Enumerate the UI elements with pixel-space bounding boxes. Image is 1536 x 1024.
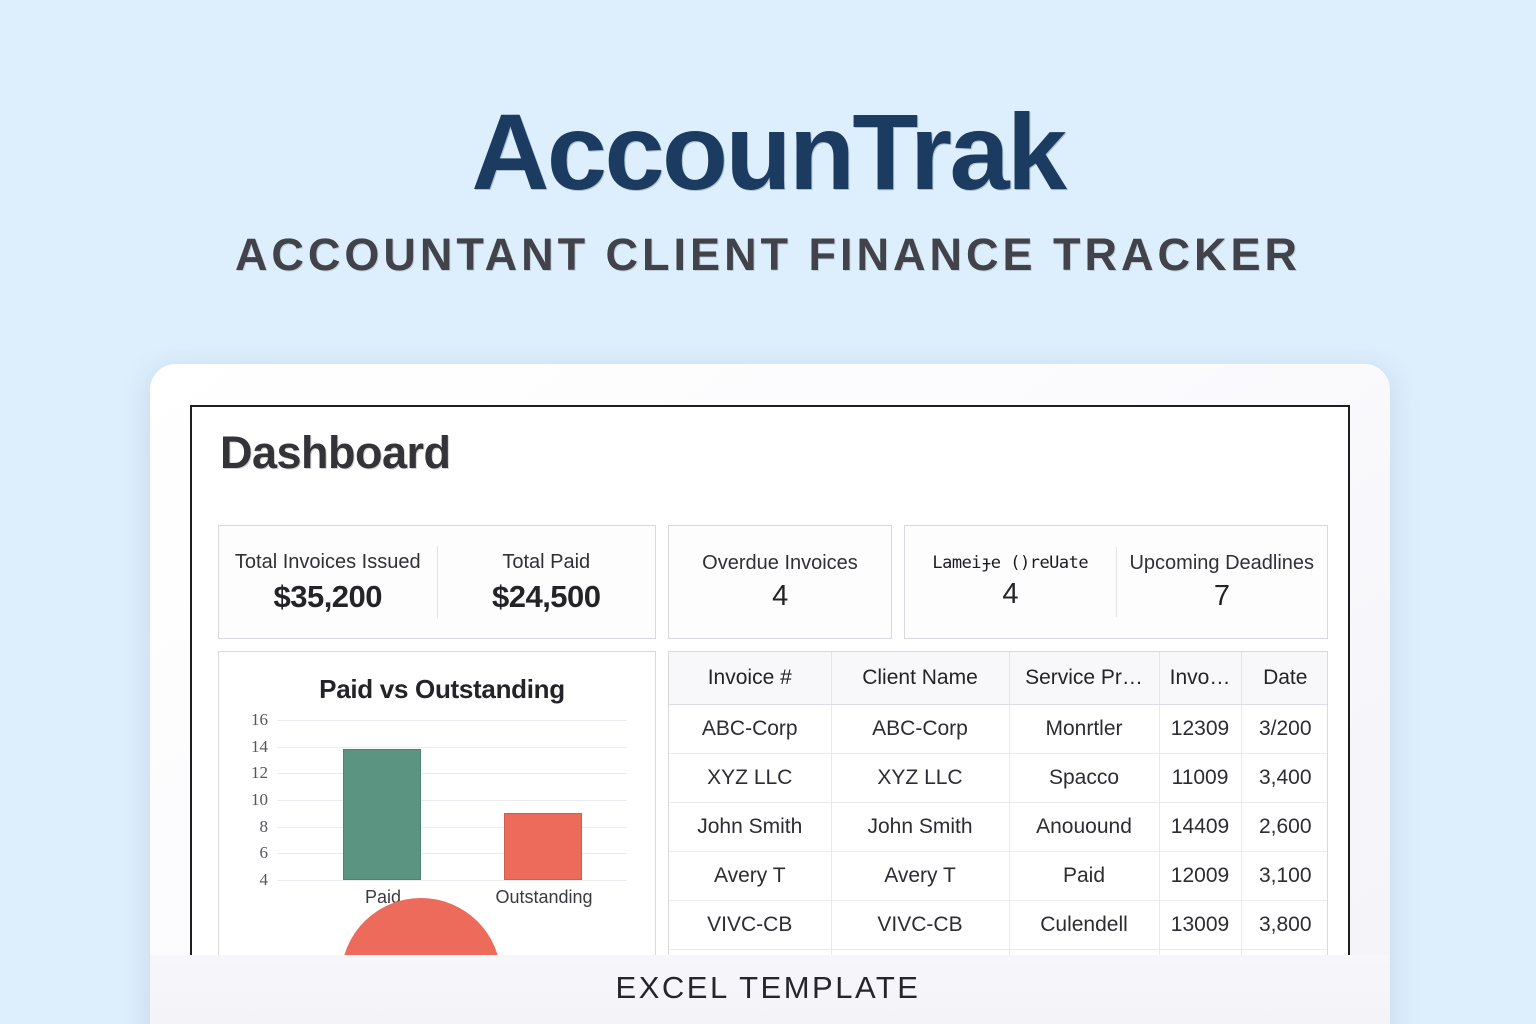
kpi-garbled-metric[interactable]: Lameiɟe ()reUate 4 — [905, 549, 1116, 616]
chart-gridline: 4 — [277, 880, 627, 881]
cell-service-provided: Paid — [1009, 852, 1159, 901]
cell-service-provided: Culendell — [1009, 901, 1159, 950]
page-title: Dashboard — [220, 427, 451, 479]
column-header-invoice-amount[interactable]: Invo… — [1159, 652, 1241, 705]
device-frame: Dashboard Total Invoices Issued $35,200 … — [150, 364, 1390, 1024]
cell-date: 3,400 — [1241, 754, 1328, 803]
kpi-upcoming-deadlines[interactable]: Upcoming Deadlines 7 — [1116, 547, 1328, 617]
kpi-card-totals[interactable]: Total Invoices Issued $35,200 Total Paid… — [218, 525, 656, 639]
brand-subtitle: ACCOUNTANT CLIENT FINANCE TRACKER — [0, 232, 1536, 277]
chart-gridline: 16 — [277, 720, 627, 721]
excel-template-label: EXCEL TEMPLATE — [0, 970, 1536, 1006]
cell-client-name: John Smith — [831, 803, 1009, 852]
table-body: ABC-CorpABC-CorpMonrtler123093/200XYZ LL… — [669, 705, 1328, 971]
cell-client-name: ABC-Corp — [831, 705, 1009, 754]
column-header-invoice-number[interactable]: Invoice # — [669, 652, 831, 705]
cell-invoice-number: XYZ LLC — [669, 754, 831, 803]
bar-paid[interactable]: Paid — [343, 749, 421, 880]
kpi-card-deadlines[interactable]: Lameiɟe ()reUate 4 Upcoming Deadlines 7 — [904, 525, 1328, 639]
column-header-date[interactable]: Date — [1241, 652, 1328, 705]
cell-invoice-amount: 14409 — [1159, 803, 1241, 852]
device-screen: Dashboard Total Invoices Issued $35,200 … — [190, 405, 1350, 970]
kpi-value: 7 — [1123, 580, 1322, 613]
cell-date: 3,100 — [1241, 852, 1328, 901]
kpi-value: $35,200 — [225, 579, 431, 615]
table-header-row: Invoice # Client Name Service Pr… Invo… … — [669, 652, 1328, 705]
cell-date: 3,800 — [1241, 901, 1328, 950]
cell-client-name: Avery T — [831, 852, 1009, 901]
table-row[interactable]: VIVC-CBVIVC-CBCulendell130093,800 — [669, 901, 1328, 950]
cell-client-name: VIVC-CB — [831, 901, 1009, 950]
column-header-client-name[interactable]: Client Name — [831, 652, 1009, 705]
cell-client-name: XYZ LLC — [831, 754, 1009, 803]
cell-service-provided: Spacco — [1009, 754, 1159, 803]
kpi-label: Overdue Invoices — [675, 551, 885, 576]
hero-section: AccounTrak ACCOUNTANT CLIENT FINANCE TRA… — [0, 0, 1536, 277]
chart-card[interactable]: Paid vs Outstanding 16141210864PaidOutst… — [218, 651, 656, 970]
y-axis-tick-label: 4 — [260, 870, 269, 890]
table-row[interactable]: Avery TAvery TPaid120093,100 — [669, 852, 1328, 901]
y-axis-tick-label: 10 — [251, 790, 268, 810]
kpi-label: Lameiɟe ()reUate — [911, 553, 1110, 574]
kpi-label: Total Invoices Issued — [225, 550, 431, 575]
y-axis-tick-label: 14 — [251, 737, 268, 757]
invoice-table: Invoice # Client Name Service Pr… Invo… … — [669, 652, 1328, 970]
chart-gridline: 12 — [277, 773, 627, 774]
table-row[interactable]: XYZ LLCXYZ LLCSpacco110093,400 — [669, 754, 1328, 803]
y-axis-tick-label: 16 — [251, 710, 268, 730]
y-axis-tick-label: 6 — [260, 843, 269, 863]
cell-date: 2,600 — [1241, 803, 1328, 852]
cell-invoice-amount: 13009 — [1159, 901, 1241, 950]
cell-service-provided: Anouound — [1009, 803, 1159, 852]
invoice-table-card[interactable]: Invoice # Client Name Service Pr… Invo… … — [668, 651, 1328, 970]
table-row[interactable]: John SmithJohn SmithAnouound144092,600 — [669, 803, 1328, 852]
kpi-value: 4 — [911, 578, 1110, 611]
chart-title: Paid vs Outstanding — [219, 674, 655, 705]
cell-invoice-amount: 12309 — [1159, 705, 1241, 754]
bar-outstanding[interactable]: Outstanding — [504, 813, 582, 880]
kpi-overdue-invoices[interactable]: Overdue Invoices 4 — [669, 547, 891, 617]
kpi-card-overdue[interactable]: Overdue Invoices 4 — [668, 525, 892, 639]
kpi-value: 4 — [675, 580, 885, 613]
lower-row: Paid vs Outstanding 16141210864PaidOutst… — [218, 651, 1328, 970]
x-axis-tick-label: Outstanding — [495, 887, 592, 908]
chart-gridline: 10 — [277, 800, 627, 801]
kpi-total-paid[interactable]: Total Paid $24,500 — [437, 546, 656, 619]
cell-invoice-number: VIVC-CB — [669, 901, 831, 950]
cell-invoice-amount: 12009 — [1159, 852, 1241, 901]
chart-gridline: 14 — [277, 747, 627, 748]
table-row[interactable]: ABC-CorpABC-CorpMonrtler123093/200 — [669, 705, 1328, 754]
cell-service-provided: Monrtler — [1009, 705, 1159, 754]
cell-date: 3/200 — [1241, 705, 1328, 754]
bar-chart-plot-area: 16141210864PaidOutstanding — [277, 720, 627, 880]
brand-title: AccounTrak — [0, 98, 1536, 206]
kpi-value: $24,500 — [444, 579, 650, 615]
kpi-row: Total Invoices Issued $35,200 Total Paid… — [218, 525, 1328, 639]
column-header-service-provided[interactable]: Service Pr… — [1009, 652, 1159, 705]
kpi-total-invoices-issued[interactable]: Total Invoices Issued $35,200 — [219, 546, 437, 619]
cell-invoice-amount: 11009 — [1159, 754, 1241, 803]
y-axis-tick-label: 12 — [251, 763, 268, 783]
y-axis-tick-label: 8 — [260, 817, 269, 837]
cell-invoice-number: John Smith — [669, 803, 831, 852]
kpi-label: Total Paid — [444, 550, 650, 575]
cell-invoice-number: Avery T — [669, 852, 831, 901]
cell-invoice-number: ABC-Corp — [669, 705, 831, 754]
kpi-label: Upcoming Deadlines — [1123, 551, 1322, 576]
